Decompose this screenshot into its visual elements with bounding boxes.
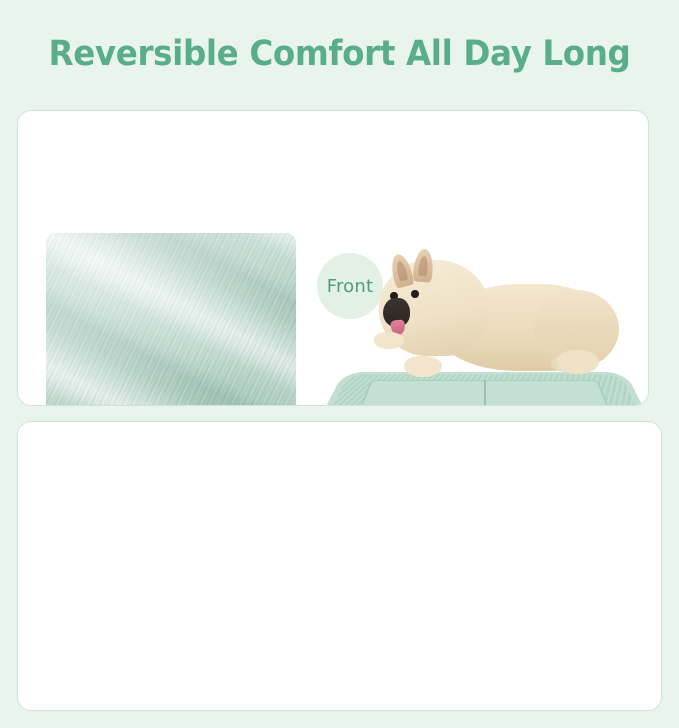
fur-shading xyxy=(46,233,296,406)
dog-ear-left xyxy=(389,252,415,288)
badge-front: Front xyxy=(317,253,383,319)
french-bulldog-front xyxy=(364,245,614,395)
dog-ear-right xyxy=(413,249,434,283)
dog-eye-right xyxy=(411,290,419,299)
faux-fur-closeup-image xyxy=(46,233,296,406)
front-feature-card: Front Cozy Faux Fur: Keeps your puppy wa… xyxy=(17,110,649,406)
back-feature-card: Back Textured Faux-linen Fabric: Ensures… xyxy=(17,421,662,711)
dog-front-paw-far xyxy=(374,332,404,349)
page-title: Reversible Comfort All Day Long xyxy=(24,34,655,74)
dog-hind-paw xyxy=(557,350,600,374)
dog-front-paw-near xyxy=(404,356,442,377)
